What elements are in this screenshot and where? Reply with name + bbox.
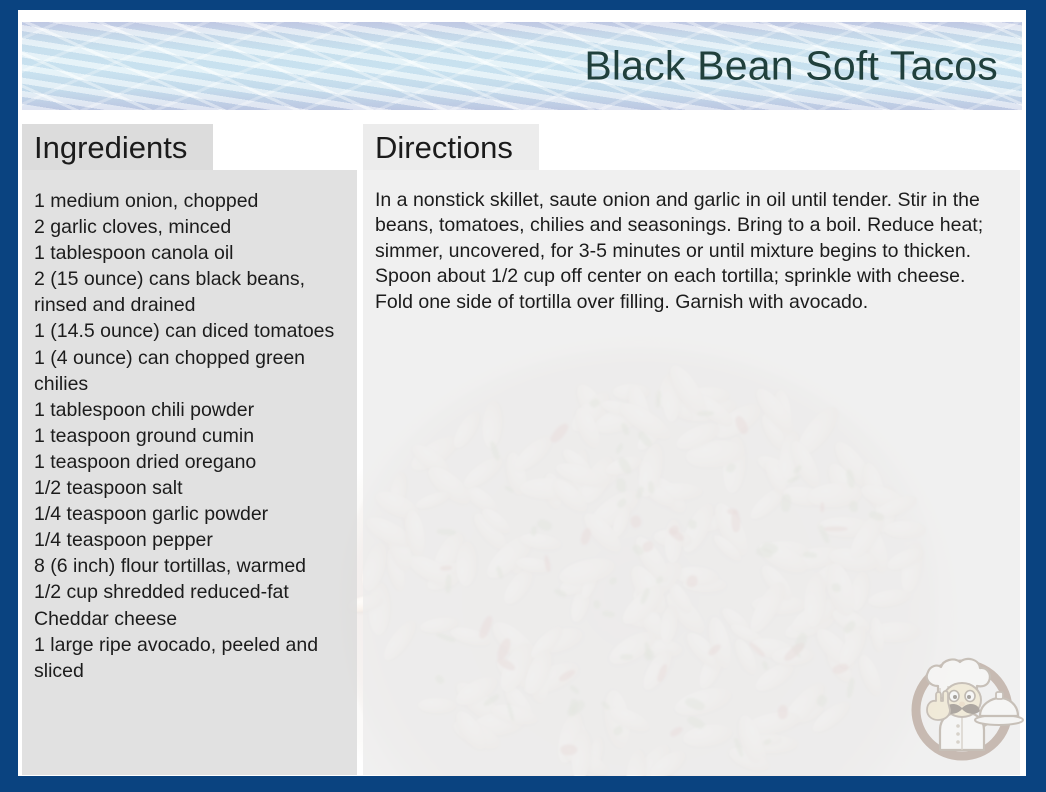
directions-text: In a nonstick skillet, saute onion and g… <box>375 188 1008 315</box>
ingredients-list: 1 medium onion, chopped2 garlic cloves, … <box>34 188 345 684</box>
tab-directions[interactable]: Directions <box>363 124 539 170</box>
ingredient-item: 1/4 teaspoon garlic powder <box>34 501 345 527</box>
tab-directions-label: Directions <box>375 130 513 166</box>
ingredient-item: 1/2 teaspoon salt <box>34 475 345 501</box>
directions-panel: In a nonstick skillet, saute onion and g… <box>363 170 1020 775</box>
ingredient-item: 1 (14.5 ounce) can diced tomatoes <box>34 318 345 344</box>
recipe-card: Black Bean Soft Tacos 1 medium onion, ch… <box>0 0 1046 792</box>
ingredient-item: 1 (4 ounce) can chopped green chilies <box>34 345 345 397</box>
ingredients-panel: 1 medium onion, chopped2 garlic cloves, … <box>22 170 357 775</box>
ingredient-item: 1 tablespoon canola oil <box>34 240 345 266</box>
header-banner: Black Bean Soft Tacos <box>22 22 1022 110</box>
page-title: Black Bean Soft Tacos <box>584 44 998 87</box>
ingredient-item: 1 tablespoon chili powder <box>34 397 345 423</box>
ingredient-item: 2 garlic cloves, minced <box>34 214 345 240</box>
ingredient-item: 1 medium onion, chopped <box>34 188 345 214</box>
tab-ingredients[interactable]: Ingredients <box>22 124 213 170</box>
tab-ingredients-label: Ingredients <box>34 130 187 166</box>
ingredient-item: 8 (6 inch) flour tortillas, warmed <box>34 553 345 579</box>
ingredient-item: 1/4 teaspoon pepper <box>34 527 345 553</box>
ingredient-item: 1 teaspoon ground cumin <box>34 423 345 449</box>
ingredient-item: 1/2 cup shredded reduced-fat Cheddar che… <box>34 579 345 631</box>
ingredient-item: 2 (15 ounce) cans black beans, rinsed an… <box>34 266 345 318</box>
ingredient-item: 1 teaspoon dried oregano <box>34 449 345 475</box>
ingredient-item: 1 large ripe avocado, peeled and sliced <box>34 632 345 684</box>
